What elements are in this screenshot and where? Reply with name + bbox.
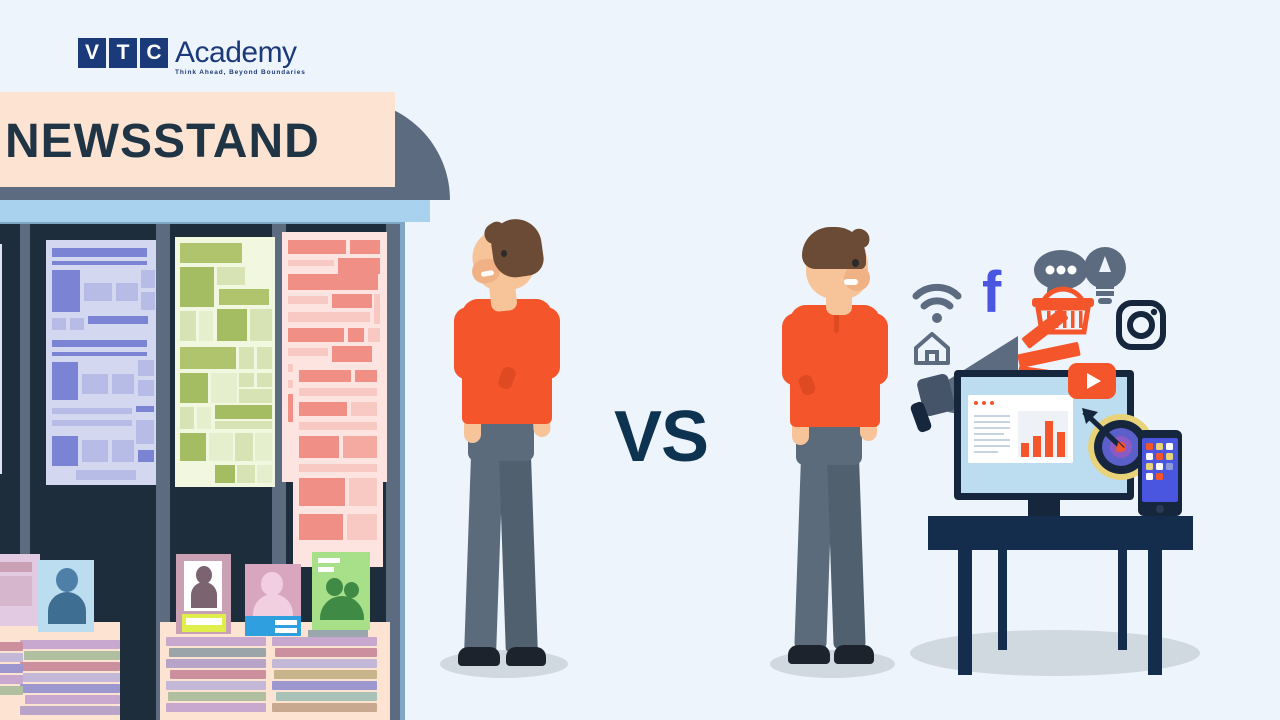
bar-1 bbox=[1021, 443, 1029, 457]
vtc-academy-logo: V T C Academy Think Ahead, Beyond Bounda… bbox=[78, 38, 306, 76]
desk-top bbox=[928, 516, 1193, 550]
vs-label: VS bbox=[614, 396, 708, 478]
phone-home-button bbox=[1156, 505, 1164, 513]
digital-marketing-scene: f bbox=[890, 230, 1220, 680]
magazine-blue bbox=[38, 560, 94, 632]
kiosk-header-band bbox=[0, 200, 430, 222]
right-leg bbox=[826, 437, 865, 650]
right-leg bbox=[498, 433, 538, 652]
magazine-stack-mid bbox=[166, 637, 266, 720]
bar-4 bbox=[1057, 432, 1065, 457]
logo-letter-t: T bbox=[109, 38, 137, 68]
right-shoe bbox=[506, 647, 546, 666]
phone-screen bbox=[1142, 438, 1178, 502]
eye bbox=[852, 259, 859, 267]
left-leg bbox=[464, 433, 504, 652]
right-sleeve bbox=[528, 307, 560, 379]
logo-wordmark: Academy Think Ahead, Beyond Boundaries bbox=[175, 38, 306, 76]
instagram-icon bbox=[1116, 300, 1166, 350]
magazine-stack-right bbox=[272, 637, 377, 720]
youtube-icon bbox=[1068, 363, 1116, 399]
bar-2 bbox=[1033, 436, 1041, 457]
logo-letter-boxes: V T C bbox=[78, 38, 168, 68]
newsstand-kiosk: NEWSSTAND bbox=[0, 92, 460, 652]
desk-leg-4 bbox=[1148, 550, 1162, 675]
newspaper-blue-edge bbox=[0, 244, 2, 474]
magazine-stack-far-left bbox=[0, 640, 23, 710]
logo-tagline: Think Ahead, Beyond Boundaries bbox=[175, 69, 306, 76]
illustration-canvas: V T C Academy Think Ahead, Beyond Bounda… bbox=[0, 0, 1280, 720]
logo-academy-text: Academy bbox=[175, 38, 306, 68]
magazine-green bbox=[312, 552, 370, 630]
smartphone-icon bbox=[1138, 430, 1182, 516]
eye bbox=[501, 250, 507, 257]
right-shoe bbox=[834, 645, 874, 664]
newsstand-sign: NEWSSTAND bbox=[0, 92, 395, 187]
newsstand-sign-text: NEWSSTAND bbox=[5, 114, 320, 169]
desk-leg-1 bbox=[958, 550, 972, 675]
browser-chart bbox=[1018, 411, 1068, 457]
wifi-icon bbox=[912, 282, 962, 324]
magazine-mauve bbox=[176, 554, 231, 634]
logo-letter-v: V bbox=[78, 38, 106, 68]
magazine-pink bbox=[245, 564, 301, 636]
browser-window bbox=[968, 395, 1073, 463]
person-looking-up bbox=[440, 215, 590, 685]
left-sleeve bbox=[782, 313, 814, 385]
newspaper-blue bbox=[46, 240, 156, 485]
magazine-mauve-left bbox=[0, 554, 40, 626]
sign-underbar bbox=[0, 187, 435, 200]
desk-leg-2 bbox=[998, 550, 1007, 650]
desk-leg-3 bbox=[1118, 550, 1127, 650]
right-sleeve bbox=[856, 313, 888, 385]
mouth bbox=[844, 279, 858, 285]
newspaper-pink-front bbox=[293, 362, 383, 567]
bar-3 bbox=[1045, 421, 1053, 457]
left-sleeve bbox=[454, 307, 486, 379]
left-shoe bbox=[788, 645, 830, 664]
logo-letter-c: C bbox=[140, 38, 168, 68]
left-shoe bbox=[458, 647, 500, 666]
newspaper-green bbox=[175, 237, 275, 487]
facebook-icon: f bbox=[982, 266, 1001, 320]
magazine-stack-left bbox=[20, 640, 120, 720]
